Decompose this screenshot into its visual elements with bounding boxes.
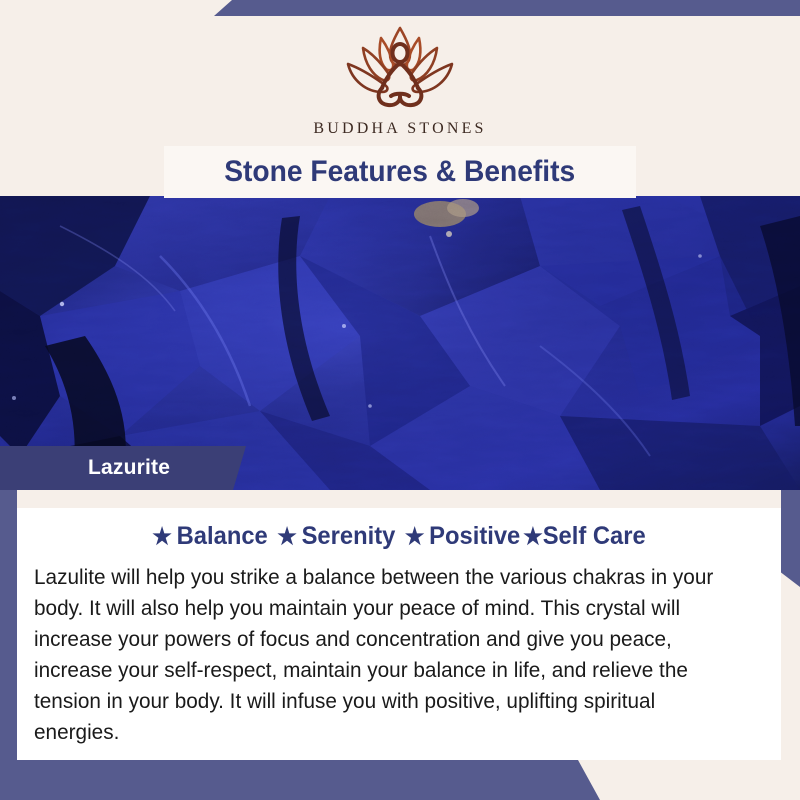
bottom-accent-band	[0, 760, 600, 800]
star-icon: ★	[277, 523, 297, 549]
page-title: Stone Features & Benefits	[224, 155, 575, 189]
stone-photo	[0, 196, 800, 490]
stone-name: Lazurite	[88, 456, 170, 480]
keyword-label: Serenity	[302, 522, 396, 550]
top-accent-band	[214, 0, 800, 16]
right-accent-stripe	[781, 490, 800, 587]
content-panel: ★Balance★Serenity★Positive★Self Care Laz…	[17, 490, 781, 760]
stone-description: Lazulite will help you strike a balance …	[34, 562, 734, 748]
keyword-list: ★Balance★Serenity★Positive★Self Care	[36, 522, 762, 551]
keyword-label: Self Care	[543, 522, 646, 550]
star-icon: ★	[523, 523, 543, 549]
bottom-right-background	[590, 760, 800, 800]
left-accent-stripe	[0, 490, 17, 760]
title-banner: Stone Features & Benefits	[164, 146, 636, 198]
keyword-label: Balance	[177, 522, 268, 550]
keyword-item-positive: ★Positive	[405, 522, 520, 551]
lotus-meditation-icon	[336, 22, 464, 116]
keyword-item-serenity: ★Serenity	[277, 522, 395, 551]
panel-top-strip	[17, 490, 781, 508]
brand-name: BUDDHA STONES	[0, 120, 800, 138]
stone-photo-texture	[0, 196, 800, 490]
star-icon: ★	[152, 523, 172, 549]
keyword-label: Positive	[429, 522, 520, 550]
brand-logo-block: BUDDHA STONES	[0, 22, 800, 138]
keyword-item-balance: ★Balance	[152, 522, 267, 551]
stone-name-tab: Lazurite	[0, 446, 246, 490]
star-icon: ★	[405, 523, 425, 549]
stone-info-card: BUDDHA STONES	[0, 0, 800, 800]
keyword-item-self-care: ★Self Care	[523, 522, 646, 551]
